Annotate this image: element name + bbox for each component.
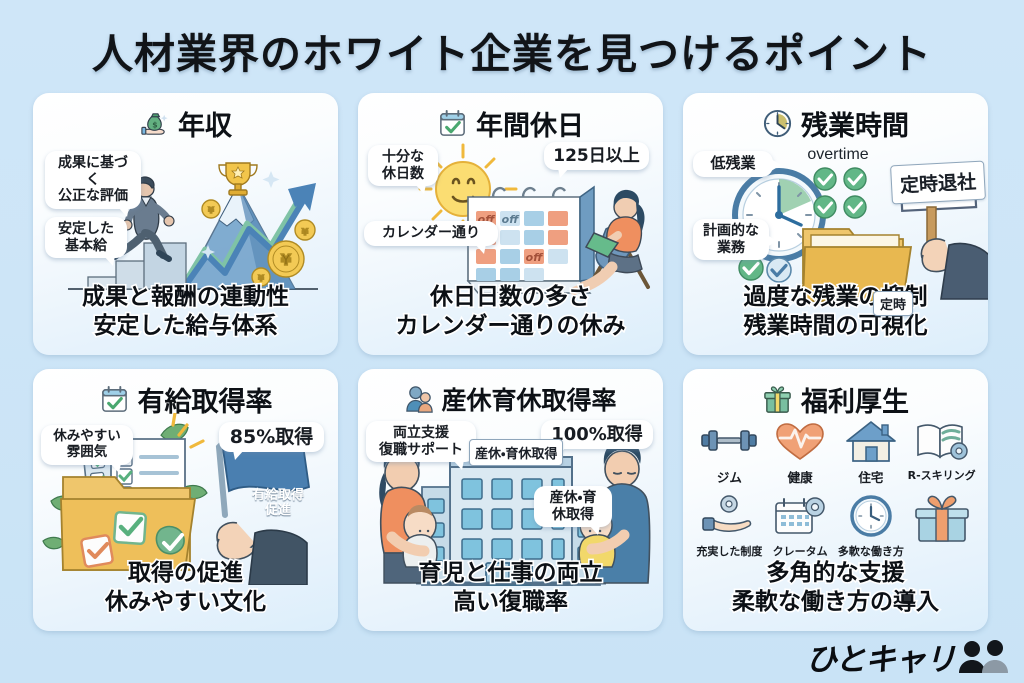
card-header: 福利厚生 bbox=[683, 379, 988, 419]
card-caption: 休日日数の多さ カレンダー通りの休み bbox=[358, 283, 663, 341]
card-caption: 取得の促進 休みやすい文化 bbox=[33, 559, 338, 617]
calendar-check-icon bbox=[99, 384, 130, 415]
benefit-item: 充実した制度 bbox=[694, 493, 765, 569]
support-balance-bubble: 両立支援 復職サポート bbox=[366, 421, 476, 462]
clock-icon bbox=[762, 108, 793, 139]
card-caption: 成果と報酬の連動性 安定した給与体系 bbox=[33, 283, 338, 341]
money-bag-on-hand-icon: $ bbox=[139, 108, 170, 139]
benefit-label: 健康 bbox=[788, 467, 813, 486]
benefit-label: 住宅 bbox=[858, 467, 883, 486]
over-125-days-bubble: 125日以上 bbox=[544, 142, 649, 170]
benefit-label: 充実した制度 bbox=[696, 543, 762, 559]
benefit-label: ジム bbox=[717, 467, 742, 486]
benefit-item: ジム bbox=[694, 417, 765, 493]
leave-on-time-signboard: 定時退社 bbox=[890, 161, 986, 205]
enough-holidays-bubble: 十分な 休日数 bbox=[368, 145, 438, 186]
hand-gear-icon bbox=[699, 493, 759, 541]
card-title: 産休育休取得率 bbox=[441, 381, 616, 417]
benefit-label: R-スキリング bbox=[908, 467, 976, 483]
card-caption: 過度な残業の抑制 残業時間の可視化 bbox=[683, 283, 988, 341]
building-sign-label: 産休・育休取得 bbox=[469, 439, 563, 466]
book-gear-icon bbox=[912, 417, 972, 465]
card-employee-benefits: 福利厚生 ジム bbox=[683, 369, 988, 631]
gift-box-icon bbox=[911, 493, 973, 545]
eighty-five-percent-bubble: 85%取得 bbox=[219, 422, 324, 452]
benefit-item: クレータム bbox=[765, 493, 836, 569]
benefit-label: クレータム bbox=[773, 543, 828, 559]
overtime-text: overtime bbox=[807, 146, 868, 163]
heart-pulse-icon bbox=[770, 417, 830, 465]
card-header: 年間休日 bbox=[358, 103, 663, 143]
fair-evaluation-bubble: 成果に基づく 公正な評価 bbox=[45, 151, 141, 209]
svg-text:$: $ bbox=[152, 120, 157, 129]
wall-clock-icon bbox=[841, 493, 901, 541]
family-icon bbox=[404, 384, 435, 415]
card-title: 残業時間 bbox=[801, 104, 909, 143]
low-overtime-bubble: 低残業 bbox=[693, 151, 773, 177]
card-annual-holidays: 年間休日 bbox=[358, 93, 663, 355]
stable-base-pay-bubble: 安定した 基本給 bbox=[45, 217, 127, 258]
card-caption: 多角的な支援 柔軟な働き方の導入 bbox=[683, 559, 988, 617]
two-people-icon bbox=[958, 640, 1010, 674]
svg-text:off: off bbox=[502, 213, 521, 226]
card-paid-leave-rate: 有給取得率 bbox=[33, 369, 338, 631]
card-parental-leave-rate: 産休育休取得率 bbox=[358, 369, 663, 631]
card-title: 年収 bbox=[178, 104, 232, 143]
benefit-label: 多軟な働き方 bbox=[838, 543, 904, 559]
benefit-item: 健康 bbox=[765, 417, 836, 493]
infographic-poster: 人材業界のホワイト企業を見つけるポイント $ 年収 bbox=[0, 0, 1024, 683]
calendar-gear-icon bbox=[770, 493, 830, 541]
card-caption: 育児と仕事の両立 高い復職率 bbox=[358, 559, 663, 617]
easy-to-take-leave-bubble: 休みやすい 雰囲気 bbox=[41, 425, 133, 465]
svg-text:off: off bbox=[526, 251, 545, 264]
parental-leave-bubble: 産休・育 休取得 bbox=[534, 486, 612, 527]
card-overtime-hours: 残業時間 overtime bbox=[683, 93, 988, 355]
card-header: 残業時間 bbox=[683, 103, 988, 143]
folder-tag-label: 定時 bbox=[873, 291, 913, 316]
svg-text:¥: ¥ bbox=[281, 251, 292, 269]
card-annual-income: $ 年収 bbox=[33, 93, 338, 355]
card-grid: $ 年収 bbox=[33, 93, 991, 631]
card-title: 年間休日 bbox=[476, 104, 584, 143]
gift-icon bbox=[762, 384, 793, 415]
card-title: 有給取得率 bbox=[138, 380, 273, 419]
benefit-item bbox=[906, 493, 977, 569]
benefits-icon-grid: ジム 健康 住宅 bbox=[694, 417, 977, 569]
svg-text:¥: ¥ bbox=[302, 228, 309, 238]
card-header: 産休育休取得率 bbox=[358, 379, 663, 419]
benefit-item: 多軟な働き方 bbox=[836, 493, 907, 569]
paid-leave-promotion-flag-label: 有給取得 促進 bbox=[237, 489, 319, 519]
benefit-item: 住宅 bbox=[836, 417, 907, 493]
benefit-item: R-スキリング bbox=[906, 417, 977, 493]
house-icon bbox=[841, 417, 901, 465]
brand-logo: ひとキャリ bbox=[806, 634, 1010, 679]
card-header: $ 年収 bbox=[33, 103, 338, 143]
calendar-based-bubble: カレンダー通り bbox=[364, 221, 498, 246]
card-title: 福利厚生 bbox=[801, 380, 909, 419]
logo-text: ひとキャリ bbox=[806, 634, 955, 679]
planned-work-bubble: 計画的な 業務 bbox=[693, 219, 769, 260]
dumbbell-icon bbox=[699, 417, 759, 465]
card-header: 有給取得率 bbox=[33, 379, 338, 419]
svg-text:¥: ¥ bbox=[208, 206, 214, 215]
calendar-check-icon bbox=[437, 108, 468, 139]
page-title: 人材業界のホワイト企業を見つけるポイント bbox=[0, 20, 1024, 80]
